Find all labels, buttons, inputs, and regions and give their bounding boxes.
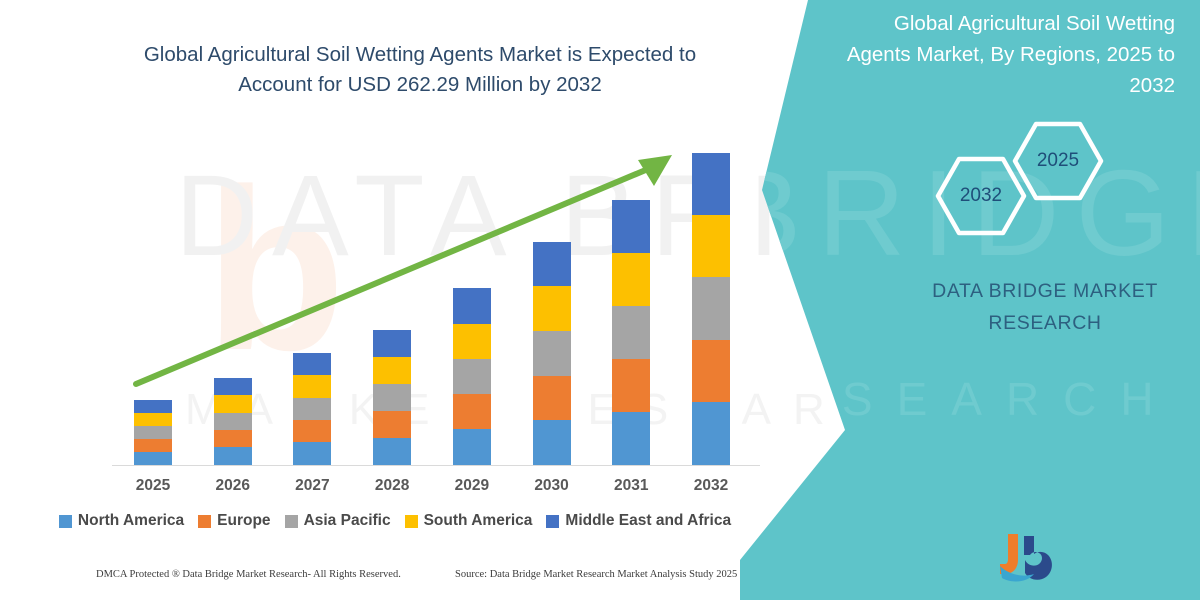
footer-dmca-text: DMCA Protected ® Data Bridge Market Rese… — [96, 569, 401, 580]
bar-segment-europe — [453, 394, 491, 429]
bar-segment-north-america — [134, 452, 172, 465]
x-axis-labels: 20252026202720282029203020312032 — [0, 477, 800, 499]
growth-arrow — [0, 0, 800, 600]
stacked-bar-chart: 20252026202720282029203020312032 — [0, 0, 800, 600]
bar-segment-middle-east-and-africa — [692, 153, 730, 215]
bar-segment-north-america — [214, 447, 252, 465]
bar-segment-asia-pacific — [692, 277, 730, 340]
bar-segment-asia-pacific — [453, 359, 491, 394]
legend-label: South America — [424, 512, 533, 530]
bar-2025 — [134, 400, 172, 465]
bar-segment-middle-east-and-africa — [214, 378, 252, 395]
bar-segment-europe — [692, 340, 730, 402]
bar-2029 — [453, 288, 491, 465]
bar-segment-north-america — [692, 402, 730, 465]
legend-item-south-america[interactable]: South America — [405, 512, 533, 530]
bar-segment-south-america — [373, 357, 411, 384]
chart-legend: North AmericaEuropeAsia PacificSouth Ame… — [0, 512, 790, 530]
bar-segment-south-america — [533, 286, 571, 331]
legend-item-asia-pacific[interactable]: Asia Pacific — [285, 512, 391, 530]
x-axis-label-2028: 2028 — [357, 477, 427, 495]
bar-2032 — [692, 153, 730, 465]
bar-segment-europe — [373, 411, 411, 438]
bar-segment-middle-east-and-africa — [293, 353, 331, 375]
x-axis-label-2030: 2030 — [517, 477, 587, 495]
chart-baseline — [112, 465, 760, 466]
legend-swatch-icon — [198, 515, 211, 528]
legend-swatch-icon — [285, 515, 298, 528]
bar-segment-asia-pacific — [612, 306, 650, 359]
legend-label: Middle East and Africa — [565, 512, 731, 530]
legend-label: Asia Pacific — [304, 512, 391, 530]
legend-swatch-icon — [405, 515, 418, 528]
bar-segment-europe — [612, 359, 650, 412]
x-axis-label-2027: 2027 — [277, 477, 347, 495]
bar-segment-europe — [134, 439, 172, 452]
bar-segment-south-america — [692, 215, 730, 277]
bar-segment-north-america — [533, 420, 571, 465]
panel-brand-line2: RESEARCH — [900, 307, 1190, 339]
bar-segment-middle-east-and-africa — [373, 330, 411, 357]
hex-badge-2025: 2025 — [1012, 121, 1104, 201]
bar-segment-north-america — [612, 412, 650, 465]
bar-segment-south-america — [612, 253, 650, 306]
bar-2031 — [612, 200, 650, 465]
bar-segment-asia-pacific — [293, 398, 331, 420]
bar-segment-middle-east-and-africa — [453, 288, 491, 324]
bar-2030 — [533, 242, 571, 465]
bar-segment-north-america — [453, 429, 491, 465]
bar-segment-north-america — [373, 438, 411, 465]
panel-brand-line1: DATA BRIDGE MARKET — [900, 275, 1190, 307]
bar-segment-south-america — [134, 413, 172, 426]
bar-segment-south-america — [453, 324, 491, 359]
svg-text:RESEARCH: RESEARCH — [740, 373, 1178, 425]
x-axis-label-2031: 2031 — [596, 477, 666, 495]
data-bridge-logo-mark — [998, 530, 1064, 586]
infographic-root: b DATA BRIDGE MARKET RESEARCH BRIDGE RES… — [0, 0, 1200, 600]
legend-item-europe[interactable]: Europe — [198, 512, 270, 530]
panel-title: Global Agricultural Soil Wetting Agents … — [845, 8, 1175, 101]
data-bridge-logo: DATA BRIDGE MARKET RESEARCH — [998, 530, 1188, 588]
bar-segment-asia-pacific — [533, 331, 571, 376]
bar-segment-middle-east-and-africa — [612, 200, 650, 253]
bar-segment-asia-pacific — [214, 413, 252, 430]
bar-2027 — [293, 353, 331, 465]
legend-swatch-icon — [546, 515, 559, 528]
x-axis-label-2032: 2032 — [676, 477, 746, 495]
legend-label: Europe — [217, 512, 270, 530]
bar-segment-north-america — [293, 442, 331, 465]
bar-2026 — [214, 378, 252, 465]
x-axis-label-2029: 2029 — [437, 477, 507, 495]
hex-badge-2025-label: 2025 — [1012, 121, 1104, 201]
bar-segment-europe — [293, 420, 331, 442]
x-axis-label-2025: 2025 — [118, 477, 188, 495]
bar-segment-asia-pacific — [134, 426, 172, 439]
panel-brand-text: DATA BRIDGE MARKET RESEARCH — [900, 275, 1190, 339]
legend-swatch-icon — [59, 515, 72, 528]
legend-item-middle-east-and-africa[interactable]: Middle East and Africa — [546, 512, 731, 530]
bar-segment-asia-pacific — [373, 384, 411, 411]
legend-item-north-america[interactable]: North America — [59, 512, 184, 530]
bar-segment-europe — [533, 376, 571, 420]
bar-segment-middle-east-and-africa — [533, 242, 571, 286]
bar-segment-middle-east-and-africa — [134, 400, 172, 413]
bar-2028 — [373, 330, 411, 465]
legend-label: North America — [78, 512, 184, 530]
bar-segment-south-america — [214, 395, 252, 413]
bar-segment-europe — [214, 430, 252, 447]
footer-source-text: Source: Data Bridge Market Research Mark… — [455, 569, 737, 580]
bar-segment-south-america — [293, 375, 331, 398]
x-axis-label-2026: 2026 — [198, 477, 268, 495]
